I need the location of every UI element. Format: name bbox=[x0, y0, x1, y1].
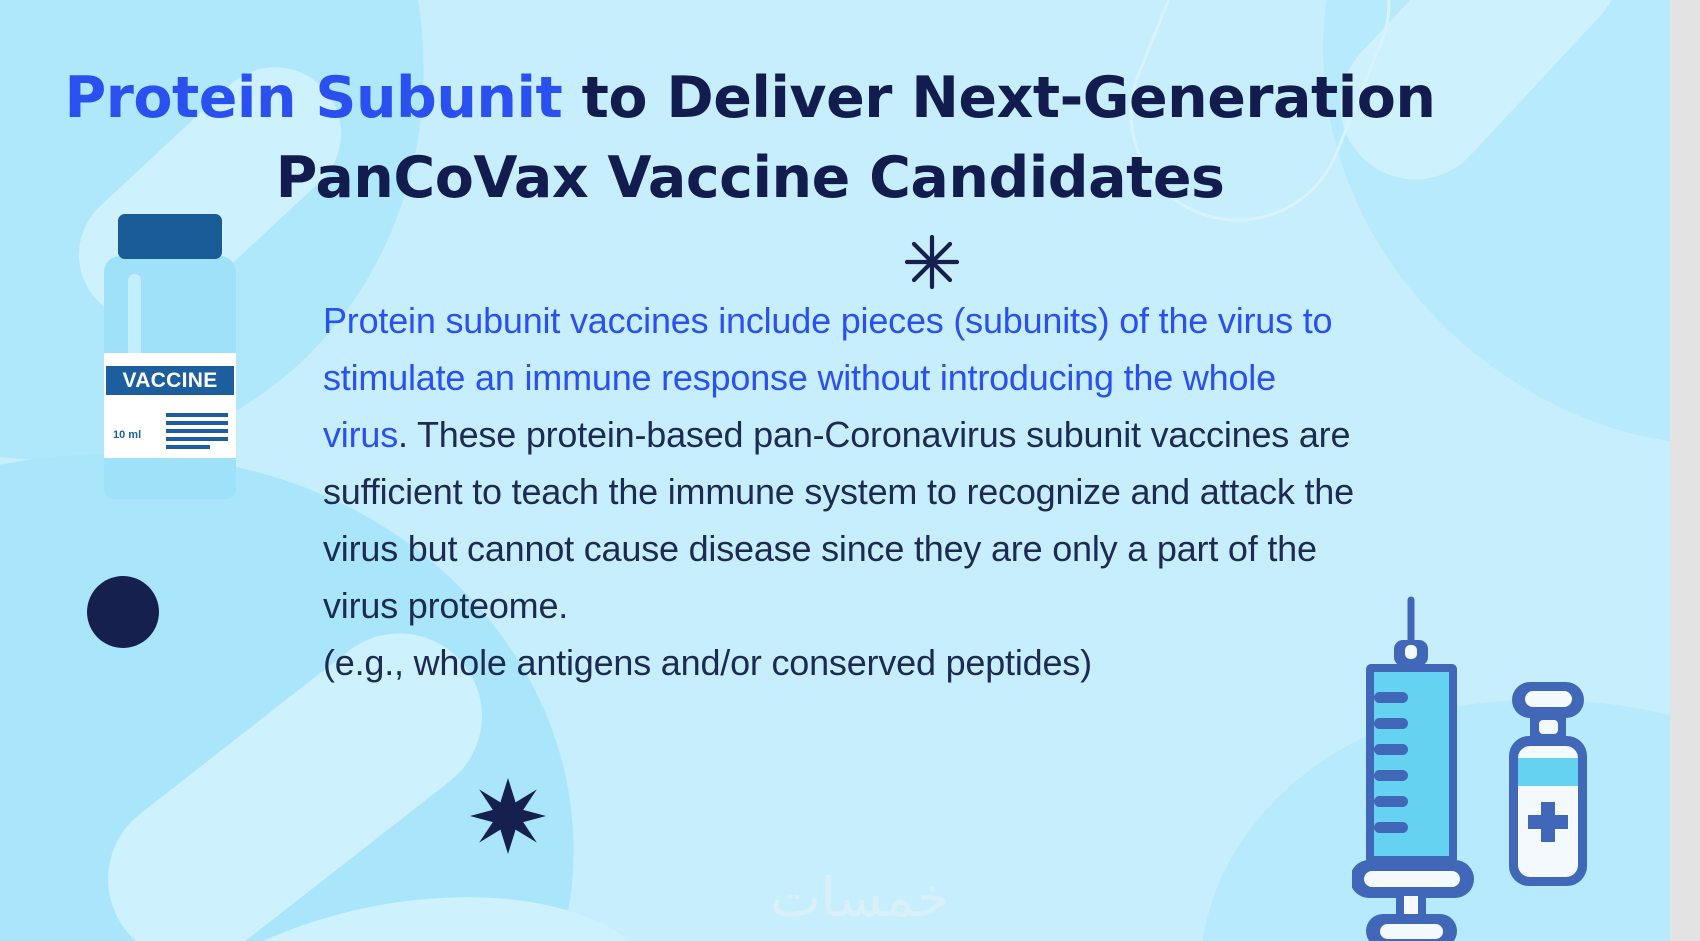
vial-label-rule bbox=[166, 429, 228, 433]
vial-label-rule bbox=[166, 437, 228, 441]
body-rest-text: . These protein-based pan-Coronavirus su… bbox=[323, 414, 1354, 626]
syringe-icon bbox=[1352, 600, 1474, 941]
slide-canvas: Protein Subunit to Deliver Next-Generati… bbox=[0, 0, 1670, 941]
vial-volume-text: 10 ml bbox=[113, 429, 141, 441]
vial-label-band: VACCINE bbox=[106, 366, 234, 395]
vial-cap bbox=[118, 214, 222, 259]
title-rest-line1: to Deliver Next-Generation bbox=[562, 65, 1435, 131]
body-example-text: (e.g., whole antigens and/or conserved p… bbox=[323, 634, 1358, 691]
right-margin-strip bbox=[1670, 0, 1700, 941]
page-title: Protein Subunit to Deliver Next-Generati… bbox=[0, 58, 1500, 218]
vial-label-text: VACCINE bbox=[106, 366, 234, 395]
asterisk-star-icon bbox=[902, 232, 962, 292]
vaccine-vial-illustration: VACCINE 10 ml bbox=[104, 214, 236, 499]
body-paragraph: Protein subunit vaccines include pieces … bbox=[323, 292, 1358, 691]
medicine-vial-icon bbox=[1509, 682, 1587, 886]
decorative-swoosh-bottom-left bbox=[90, 850, 700, 941]
title-line2: PanCoVax Vaccine Candidates bbox=[276, 145, 1225, 211]
watermark-text: خمسات bbox=[690, 866, 1030, 929]
vial-label: VACCINE 10 ml bbox=[104, 353, 236, 458]
circle-dot-icon bbox=[87, 576, 159, 648]
title-highlight: Protein Subunit bbox=[64, 65, 562, 131]
eight-point-star-icon bbox=[470, 778, 546, 854]
syringe-and-vial-illustration bbox=[1352, 596, 1652, 941]
vial-label-rule bbox=[166, 445, 210, 449]
vial-label-rule bbox=[166, 413, 228, 417]
vial-label-rule bbox=[166, 421, 228, 425]
